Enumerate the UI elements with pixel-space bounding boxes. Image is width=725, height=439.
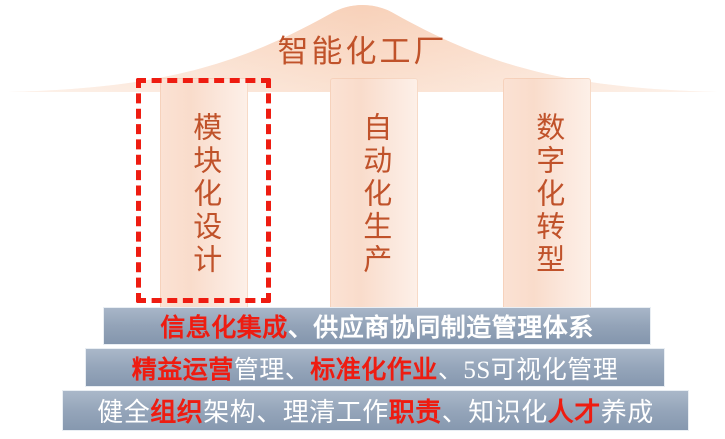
base-bar-3: 健全组织架构、理清工作职责、知识化人才养成 <box>62 390 689 431</box>
highlight-dashed-box <box>136 78 271 303</box>
bar-segment: 、供应商协同制造管理体系 <box>288 308 594 344</box>
base-bar-1: 信息化集成、供应商协同制造管理体系 <box>103 307 651 345</box>
pillar-digital-transformation[interactable]: 数字化转型 <box>503 78 591 310</box>
bar-segment: 养成 <box>601 392 654 429</box>
bar-segment: 组织 <box>150 392 203 429</box>
bar-segment: 人才 <box>548 392 601 429</box>
bar-segment: 职责 <box>389 392 442 429</box>
bar-segment: 架构、理清工作 <box>203 392 389 429</box>
pillar-label: 自动化生产 <box>359 112 389 277</box>
bar-segment: 信息化集成 <box>160 308 288 344</box>
pillar-automated-production[interactable]: 自动化生产 <box>330 78 418 310</box>
pillar-label: 数字化转型 <box>532 112 562 277</box>
bar-segment: 精益运营 <box>132 350 234 386</box>
bar-segment: 管理、 <box>234 350 311 386</box>
bar-segment: 、知识化 <box>442 392 548 429</box>
base-bar-2: 精益运营管理、标准化作业、5S可视化管理 <box>85 348 665 387</box>
bar-segment: 、5S可视化管理 <box>438 350 618 386</box>
bar-segment: 健全 <box>97 392 150 429</box>
diagram-canvas: 智能化工厂 模块化设计 自动化生产 数字化转型 信息化集成、供应商协同制造管理体… <box>0 0 725 439</box>
bar-segment: 标准化作业 <box>310 350 438 386</box>
roof-title: 智能化工厂 <box>0 26 725 71</box>
